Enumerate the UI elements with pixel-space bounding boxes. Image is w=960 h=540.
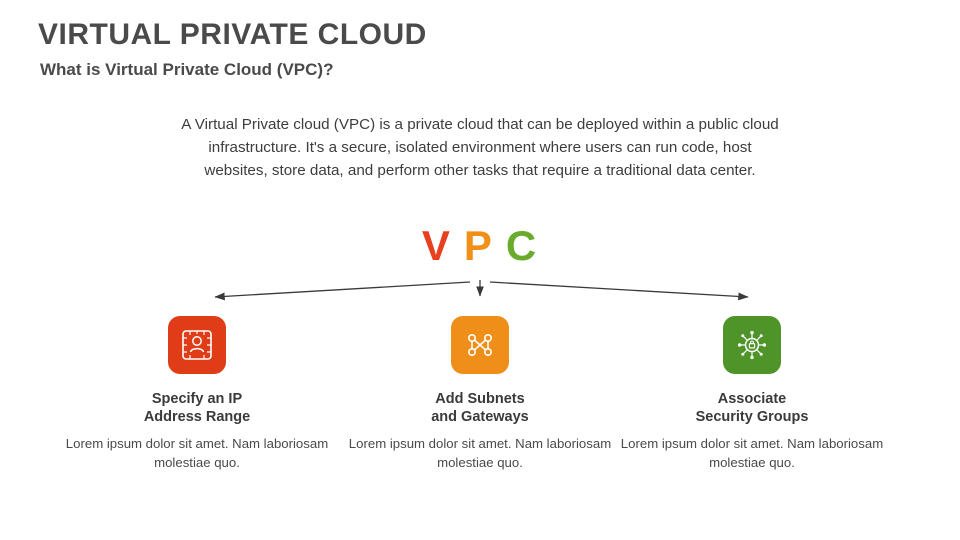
feature-body-1: Lorem ipsum dolor sit amet. Nam laborios… (62, 434, 332, 472)
feature-column-1: Specify an IP Address Range Lorem ipsum … (62, 316, 332, 473)
ip-address-range-icon (168, 316, 226, 374)
feature-heading-2-line1: Add Subnets (345, 390, 615, 408)
feature-heading-2-line2: and Gateways (345, 408, 615, 426)
feature-body-2: Lorem ipsum dolor sit amet. Nam laborios… (345, 434, 615, 472)
feature-heading-1-line1: Specify an IP (62, 390, 332, 408)
page-subtitle: What is Virtual Private Cloud (VPC)? (40, 60, 333, 80)
vpc-acronym: VPC (0, 222, 960, 270)
feature-column-3: Associate Security Groups Lorem ipsum do… (617, 316, 887, 473)
feature-heading-2: Add Subnets and Gateways (345, 390, 615, 426)
page-title: VIRTUAL PRIVATE CLOUD (38, 18, 427, 52)
subnets-gateways-icon (451, 316, 509, 374)
feature-heading-3-line2: Security Groups (617, 408, 887, 426)
vpc-letter-v: V (416, 222, 458, 270)
feature-heading-3: Associate Security Groups (617, 390, 887, 426)
vpc-letter-p: P (458, 222, 500, 270)
feature-body-3: Lorem ipsum dolor sit amet. Nam laborios… (617, 434, 887, 472)
feature-column-2: Add Subnets and Gateways Lorem ipsum dol… (345, 316, 615, 473)
feature-heading-1: Specify an IP Address Range (62, 390, 332, 426)
feature-heading-3-line1: Associate (617, 390, 887, 408)
feature-heading-1-line2: Address Range (62, 408, 332, 426)
security-groups-icon (723, 316, 781, 374)
vpc-letter-c: C (500, 222, 544, 270)
slide-canvas: VIRTUAL PRIVATE CLOUD What is Virtual Pr… (0, 0, 960, 540)
intro-paragraph: A Virtual Private cloud (VPC) is a priva… (180, 114, 780, 182)
